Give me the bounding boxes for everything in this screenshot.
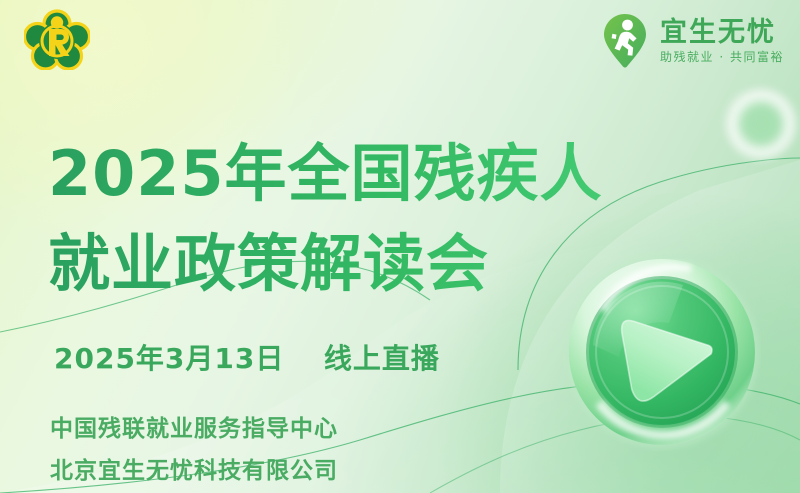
brand-tagline: 助残就业 · 共同富裕 [660, 51, 784, 63]
page-title: 2025年全国残疾人 就业政策解读会 [48, 134, 648, 304]
bokeh-circle-decoration [725, 88, 797, 160]
organizer-item: 北京宜生无忧科技有限公司 [50, 450, 338, 492]
headline-line-1: 2025年全国残疾人 [48, 134, 648, 214]
organizer-list: 中国残联就业服务指导中心 北京宜生无忧科技有限公司 [50, 408, 338, 492]
poster-canvas: 宜生无忧 助残就业 · 共同富裕 2025年全国残疾人 就业政策解读会 2025… [0, 0, 800, 493]
play-triangle-icon[interactable] [563, 253, 761, 451]
play-button[interactable] [563, 253, 761, 451]
event-channel: 线上直播 [324, 342, 440, 375]
brand-name: 宜生无忧 [660, 19, 784, 47]
event-date: 2025年3月13日 [54, 342, 284, 375]
headline-line-2: 就业政策解读会 [48, 224, 648, 304]
cdpf-plum-blossom-logo [24, 8, 90, 70]
organizer-item: 中国残联就业服务指导中心 [50, 408, 338, 450]
brand-lockup: 宜生无忧 助残就业 · 共同富裕 [598, 10, 784, 72]
event-meta: 2025年3月13日 线上直播 [54, 337, 440, 377]
location-pin-person-icon [598, 12, 652, 70]
